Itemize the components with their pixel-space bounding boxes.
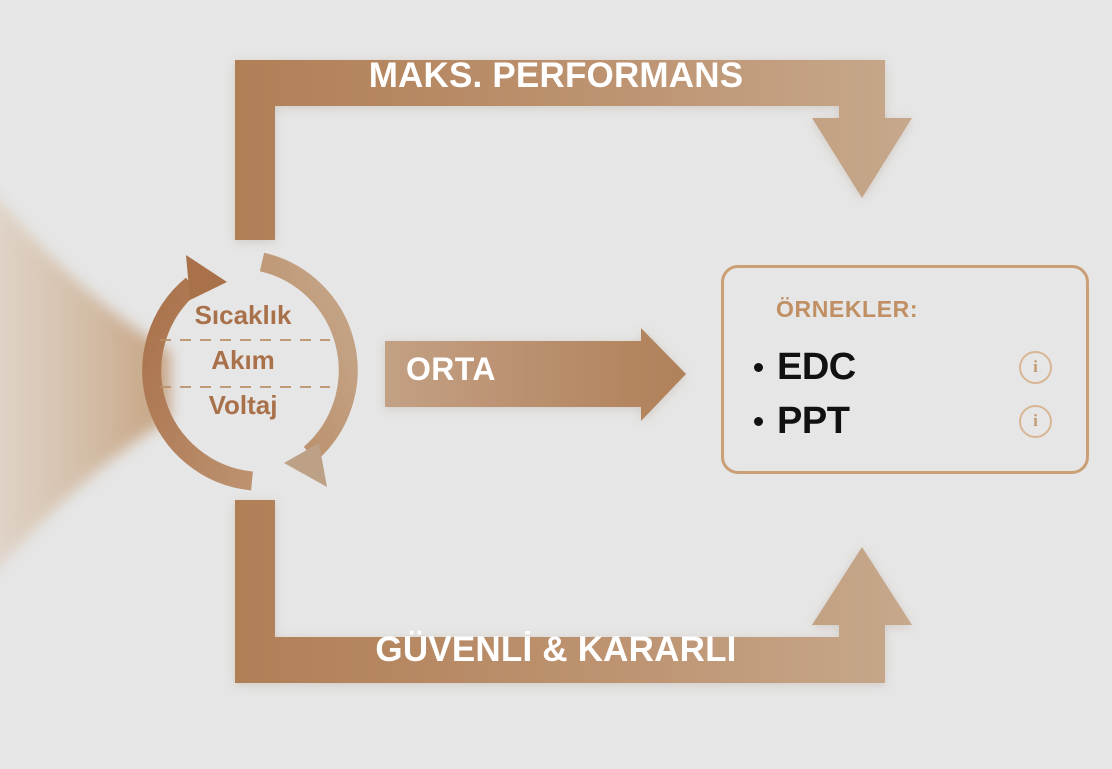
example-item-edc[interactable]: EDC i: [742, 344, 1074, 390]
label-safe-stable: GÜVENLİ & KARARLI: [0, 630, 1112, 670]
cycle-item-temperature: Sıcaklık: [143, 300, 343, 331]
info-icon[interactable]: i: [1019, 351, 1052, 384]
examples-card: ÖRNEKLER: EDC i PPT i: [721, 265, 1089, 474]
example-item-ppt[interactable]: PPT i: [742, 398, 1074, 444]
example-label: PPT: [777, 400, 849, 443]
cycle-item-voltage: Voltaj: [143, 390, 343, 421]
cycle-item-current: Akım: [143, 345, 343, 376]
label-max-performance: MAKS. PERFORMANS: [0, 56, 1112, 96]
bullet-icon: [750, 363, 766, 372]
example-label: EDC: [777, 346, 856, 389]
info-icon[interactable]: i: [1019, 405, 1052, 438]
bullet-icon: [750, 417, 766, 426]
diagram-canvas: MAKS. PERFORMANS ORTA GÜVENLİ & KARARLI …: [0, 0, 1112, 769]
label-orta: ORTA: [406, 351, 496, 388]
examples-title: ÖRNEKLER:: [776, 296, 918, 323]
